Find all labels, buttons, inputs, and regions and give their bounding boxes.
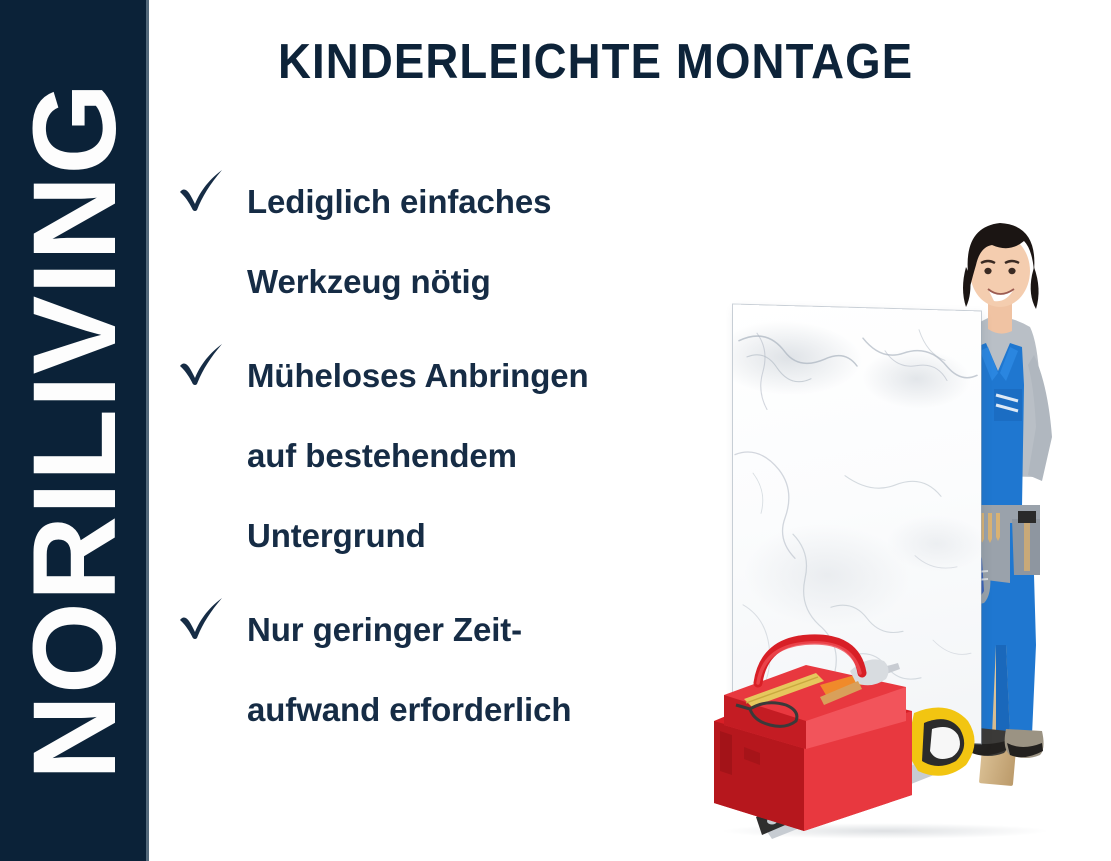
product-photo [690, 175, 1111, 861]
infographic-canvas: NORILIVING KINDERLEICHTE MONTAGE Ledigli… [0, 0, 1111, 861]
list-item-line: Lediglich einfaches [247, 162, 708, 242]
list-item-line: aufwand erforderlich [247, 670, 708, 750]
brand-name: NORILIVING [16, 81, 134, 779]
list-item-line: Nur geringer Zeit- [247, 590, 708, 670]
checkmark-icon [178, 168, 226, 212]
list-item-text: Nur geringer Zeit- aufwand erforderlich [247, 590, 708, 750]
list-item-text: Lediglich einfaches Werkzeug nötig [247, 162, 708, 322]
list-item-line: auf bestehendem [247, 416, 708, 496]
checkmark-icon [178, 596, 226, 640]
list-item: Lediglich einfaches Werkzeug nötig [178, 162, 708, 322]
list-item-line: Untergrund [247, 496, 708, 576]
brand-band: NORILIVING [0, 0, 149, 861]
brand-band-edge [146, 0, 149, 861]
red-toolbox [714, 639, 912, 831]
list-item: Nur geringer Zeit- aufwand erforderlich [178, 590, 708, 750]
page-title: KINDERLEICHTE MONTAGE [278, 38, 913, 87]
list-item-line: Werkzeug nötig [247, 242, 708, 322]
checkmark-icon [178, 342, 226, 386]
list-item-line: Müheloses Anbringen [247, 336, 708, 416]
toolkit [700, 625, 1000, 855]
benefit-list: Lediglich einfaches Werkzeug nötig Mühel… [178, 162, 708, 764]
list-item: Müheloses Anbringen auf bestehendem Unte… [178, 336, 708, 576]
list-item-text: Müheloses Anbringen auf bestehendem Unte… [247, 336, 708, 576]
